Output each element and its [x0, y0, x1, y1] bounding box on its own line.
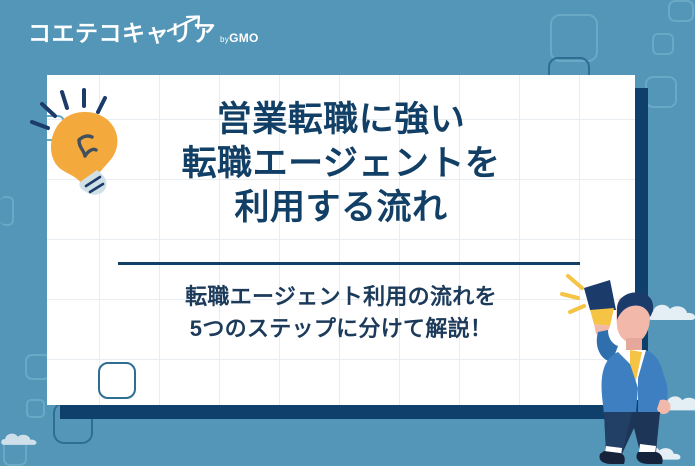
decor-rounded-square: [668, 0, 694, 22]
title-divider: [118, 262, 580, 265]
brand-gmo-text: GMO: [229, 31, 259, 45]
arrow-up-right-icon: [167, 15, 201, 33]
decor-rounded-square: [26, 399, 45, 418]
subtitle-line-1: 転職エージェント利用の流れを: [47, 281, 635, 313]
subtitle-block: 転職エージェント利用の流れを 5つのステップに分けて解説！: [47, 281, 635, 345]
decor-rounded-square: [0, 196, 14, 226]
decor-rounded-square: [550, 14, 598, 62]
decor-rounded-square: [652, 33, 674, 55]
businessman-with-megaphone-illustration: [560, 268, 680, 466]
brand-by: by: [220, 35, 229, 44]
brand-company: byGMO: [220, 32, 259, 45]
subtitle-line-2: 5つのステップに分けて解説！: [47, 313, 635, 345]
megaphone-sound-lines: [562, 276, 584, 312]
brand-logo[interactable]: コエテコキャリア byGMO: [28, 22, 259, 45]
poster-canvas: コエテコキャリア byGMO 営業転職に強い 転職エージェントを 利用する流れ …: [0, 0, 695, 466]
decor-rounded-square: [98, 362, 136, 399]
decor-rounded-square: [645, 76, 677, 108]
cloud-icon: [0, 430, 40, 448]
megaphone-icon: [584, 280, 616, 336]
lightbulb-icon: [22, 78, 142, 198]
